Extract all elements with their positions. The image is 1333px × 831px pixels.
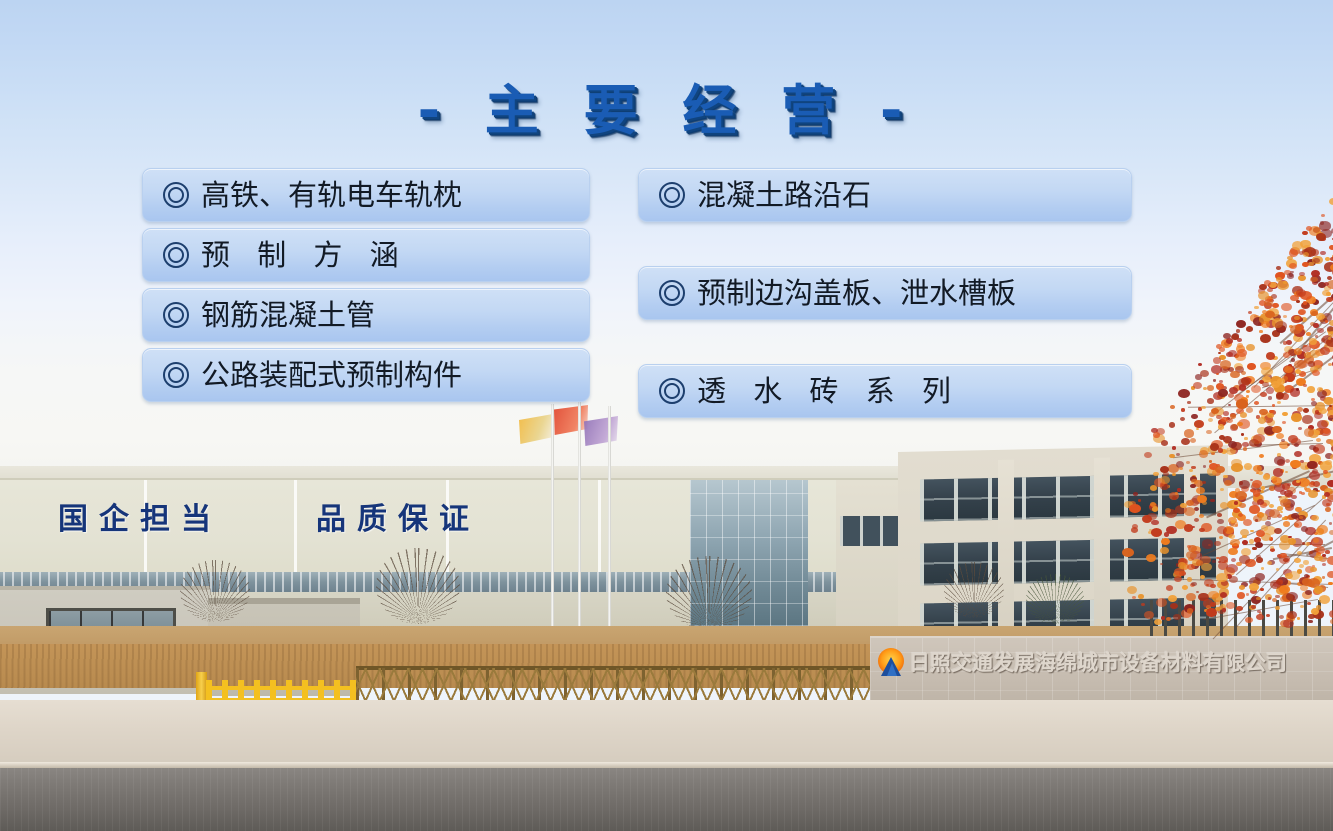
tree-leaf bbox=[1315, 410, 1319, 413]
tree-leaf bbox=[1151, 428, 1158, 433]
tree-leaf bbox=[1314, 548, 1318, 551]
service-item-left-2[interactable]: 预 制 方 涵 bbox=[142, 228, 590, 282]
tree-leaf bbox=[1223, 436, 1231, 443]
tree-leaf bbox=[1301, 492, 1305, 495]
tree-leaf bbox=[1316, 438, 1321, 442]
tree-leaf bbox=[1196, 428, 1199, 430]
tree-leaf bbox=[1223, 411, 1229, 416]
tree-leaf bbox=[1294, 558, 1301, 563]
tree-leaf bbox=[1313, 538, 1319, 543]
tree-leaf bbox=[1294, 523, 1299, 527]
service-item-right-3[interactable]: 透 水 砖 系 列 bbox=[638, 364, 1132, 418]
tree-leaf bbox=[1270, 410, 1276, 415]
tree-leaf bbox=[1308, 425, 1314, 430]
tree-leaf bbox=[1253, 494, 1265, 503]
double-circle-icon bbox=[659, 182, 685, 208]
tree-leaf bbox=[1261, 500, 1269, 507]
tree-leaf bbox=[1265, 428, 1275, 436]
tree-leaf bbox=[1280, 511, 1283, 514]
tree-branch bbox=[1277, 582, 1327, 588]
tree-leaf bbox=[1324, 488, 1333, 495]
tree-leaf bbox=[1322, 495, 1327, 499]
banner-title-wrap: - 主 要 经 营 - bbox=[0, 66, 1333, 145]
tree-leaf bbox=[1277, 453, 1281, 456]
tree-leaf bbox=[1318, 461, 1323, 465]
double-circle-icon bbox=[163, 302, 189, 328]
tree-leaf bbox=[1255, 542, 1263, 548]
tree-leaf bbox=[1243, 519, 1252, 526]
tree-leaf bbox=[1241, 582, 1247, 587]
tree-leaf bbox=[1313, 576, 1322, 583]
tree-leaf bbox=[1232, 543, 1239, 549]
service-label: 透 水 砖 系 列 bbox=[697, 377, 960, 406]
tree-leaf bbox=[1329, 405, 1332, 408]
tree-leaf bbox=[1308, 429, 1319, 438]
tree-leaf bbox=[1187, 401, 1190, 404]
tree-leaf bbox=[1282, 412, 1287, 416]
tree-leaf bbox=[1228, 535, 1232, 538]
tree-leaf bbox=[1198, 407, 1202, 410]
tree-leaf bbox=[1231, 558, 1236, 562]
tree-leaf bbox=[1288, 538, 1296, 545]
tree-leaf bbox=[1317, 420, 1328, 429]
tree-leaf bbox=[1309, 454, 1320, 463]
tree-leaf bbox=[1327, 411, 1333, 419]
tree-leaf bbox=[1309, 445, 1316, 450]
tree-leaf bbox=[1230, 413, 1236, 418]
double-circle-icon bbox=[163, 242, 189, 268]
tree-leaf bbox=[1231, 424, 1238, 429]
service-item-right-1[interactable]: 混凝土路沿石 bbox=[638, 168, 1132, 222]
tree-leaf bbox=[1277, 577, 1288, 586]
tree-leaf bbox=[1328, 415, 1333, 421]
tree-leaf bbox=[1272, 426, 1281, 433]
company-name-row: 日照交通发展海绵城市设备材料有限公司 bbox=[876, 647, 1287, 677]
tree-leaf bbox=[1298, 427, 1302, 430]
tree-leaf bbox=[1297, 569, 1303, 573]
tree-leaf bbox=[1295, 515, 1302, 521]
tree-leaf bbox=[1277, 506, 1283, 511]
tree-leaf bbox=[1269, 410, 1274, 414]
tree-leaf bbox=[1240, 529, 1249, 536]
tree-leaf bbox=[1239, 503, 1246, 509]
office-pier bbox=[998, 460, 1014, 642]
tree-leaf bbox=[1208, 418, 1213, 422]
tree-leaf bbox=[1261, 412, 1271, 420]
tree-leaf bbox=[1315, 428, 1323, 435]
tree-leaf bbox=[1329, 530, 1333, 535]
tree-leaf bbox=[1295, 507, 1302, 513]
tree-leaf bbox=[1253, 490, 1261, 496]
tree-leaf bbox=[1259, 513, 1268, 521]
tree-leaf bbox=[1206, 430, 1212, 434]
tree-leaf bbox=[1319, 408, 1327, 414]
tree-leaf bbox=[1328, 410, 1333, 415]
tree-leaf bbox=[1327, 556, 1333, 565]
tree-leaf bbox=[1276, 568, 1279, 571]
tree-leaf bbox=[1284, 516, 1288, 519]
tree-leaf bbox=[1207, 398, 1214, 404]
tree-leaf bbox=[1299, 516, 1303, 520]
tree-leaf bbox=[1169, 422, 1176, 427]
tree-leaf bbox=[1306, 580, 1315, 587]
tree-leaf bbox=[1285, 503, 1295, 511]
service-item-left-1[interactable]: 高铁、有轨电车轨枕 bbox=[142, 168, 590, 222]
tree-leaf bbox=[1277, 459, 1285, 466]
flag-pole bbox=[578, 396, 581, 664]
tree-leaf bbox=[1279, 585, 1290, 594]
tree-leaf bbox=[1322, 554, 1325, 557]
tree-leaf bbox=[1316, 490, 1320, 493]
tree-leaf bbox=[1245, 559, 1256, 568]
tree-leaf bbox=[1268, 560, 1275, 565]
tree-branch bbox=[1247, 443, 1323, 446]
tree-leaf bbox=[1282, 421, 1286, 425]
service-label: 公路装配式预制构件 bbox=[201, 361, 462, 390]
tree-leaf bbox=[1318, 585, 1326, 591]
tree-leaf bbox=[1275, 595, 1280, 599]
tree-leaf bbox=[1270, 548, 1275, 552]
tree-leaf bbox=[1317, 412, 1321, 415]
tree-leaf bbox=[1239, 585, 1245, 590]
tree-leaf bbox=[1325, 453, 1333, 459]
tree-leaf bbox=[1194, 420, 1203, 428]
tree-leaf bbox=[1309, 551, 1313, 554]
tree-leaf bbox=[1303, 408, 1309, 413]
tree-leaf bbox=[1267, 561, 1272, 565]
tree-leaf bbox=[1314, 555, 1322, 562]
tree-leaf bbox=[1252, 500, 1260, 506]
tree-leaf bbox=[1267, 516, 1271, 519]
tree-leaf bbox=[1238, 496, 1246, 502]
company-name-text: 日照交通发展海绵城市设备材料有限公司 bbox=[909, 647, 1287, 677]
tree-leaf bbox=[1226, 417, 1231, 421]
tree-leaf bbox=[1265, 509, 1275, 517]
tree-leaf bbox=[1285, 505, 1291, 510]
tree-leaf bbox=[1267, 419, 1275, 425]
tree-leaf bbox=[1288, 571, 1300, 580]
tree-leaf bbox=[1239, 400, 1246, 406]
tree-leaf bbox=[1237, 592, 1246, 599]
tree-leaf bbox=[1257, 512, 1264, 518]
tree-leaf bbox=[1280, 499, 1291, 508]
tree-leaf bbox=[1230, 539, 1240, 547]
tree-leaf bbox=[1279, 555, 1291, 564]
tree-leaf bbox=[1229, 576, 1238, 583]
tree-leaf bbox=[1228, 404, 1231, 407]
tree-leaf bbox=[1244, 437, 1247, 440]
tree-leaf bbox=[1251, 488, 1257, 493]
tree-leaf bbox=[1298, 515, 1305, 521]
tree-leaf bbox=[1212, 407, 1224, 416]
tree-leaf bbox=[1279, 541, 1290, 550]
tree-leaf bbox=[1251, 435, 1263, 444]
tree-leaf bbox=[1316, 528, 1325, 535]
poster-canvas: 国企担当 品质保证 bbox=[0, 0, 1333, 831]
tree-leaf bbox=[1279, 585, 1286, 590]
tree-leaf bbox=[1278, 496, 1281, 499]
tree-leaf bbox=[1299, 577, 1309, 585]
tree-leaf bbox=[1316, 552, 1321, 556]
double-circle-icon bbox=[163, 182, 189, 208]
tree-leaf bbox=[1276, 579, 1283, 585]
tree-leaf bbox=[1313, 488, 1317, 491]
tree-leaf bbox=[1313, 588, 1321, 595]
tree-leaf bbox=[1288, 435, 1298, 443]
tree-leaf bbox=[1234, 501, 1238, 505]
office-window-row bbox=[920, 473, 1216, 521]
tree-leaf bbox=[1211, 408, 1219, 414]
tree-branch bbox=[1243, 544, 1325, 545]
tree-leaf bbox=[1258, 417, 1267, 424]
tree-leaf bbox=[1230, 414, 1237, 419]
services-right-column: 混凝土路沿石 预制边沟盖板、泄水槽板 透 水 砖 系 列 bbox=[638, 168, 1132, 418]
tree-leaf bbox=[1311, 515, 1319, 521]
tree-leaf bbox=[1326, 503, 1329, 506]
tree-leaf bbox=[1315, 402, 1325, 410]
tree-leaf bbox=[1300, 460, 1304, 463]
tree-leaf bbox=[1297, 407, 1303, 412]
tree-leaf bbox=[1281, 439, 1285, 442]
tree-leaf bbox=[1302, 542, 1306, 545]
tree-leaf bbox=[1277, 514, 1282, 518]
tree-leaf bbox=[1264, 526, 1276, 536]
service-item-left-4[interactable]: 公路装配式预制构件 bbox=[142, 348, 590, 402]
tree-leaf bbox=[1328, 582, 1333, 586]
tree-leaf bbox=[1233, 508, 1240, 513]
tree-leaf bbox=[1299, 564, 1304, 568]
tree-leaf bbox=[1294, 451, 1302, 457]
tree-leaf bbox=[1314, 586, 1324, 594]
tree-leaf bbox=[1244, 542, 1247, 545]
tree-leaf bbox=[1236, 399, 1248, 408]
tree-leaf bbox=[1231, 520, 1235, 523]
tree-leaf bbox=[1322, 563, 1326, 566]
tree-leaf bbox=[1287, 515, 1293, 520]
tree-leaf bbox=[1322, 499, 1332, 507]
asphalt-road bbox=[0, 768, 1333, 831]
tree-leaf bbox=[1254, 441, 1262, 448]
tree-leaf bbox=[1288, 536, 1291, 539]
tree-leaf bbox=[1327, 406, 1333, 414]
tree-leaf bbox=[1309, 550, 1319, 558]
tree-leaf bbox=[1226, 418, 1233, 424]
tree-leaf bbox=[1242, 442, 1249, 448]
tree-leaf bbox=[1230, 424, 1238, 430]
tree-leaf bbox=[1291, 495, 1297, 500]
tree-leaf bbox=[1238, 419, 1249, 428]
tree-leaf bbox=[1321, 420, 1329, 427]
tree-branch bbox=[1273, 547, 1332, 560]
tree-leaf bbox=[1252, 547, 1257, 551]
tree-leaf bbox=[1242, 540, 1248, 545]
tree-leaf bbox=[1230, 543, 1233, 546]
tree-leaf bbox=[1306, 575, 1310, 578]
tree-leaf bbox=[1302, 578, 1312, 586]
tree-leaf bbox=[1299, 491, 1302, 494]
tree-leaf bbox=[1291, 413, 1302, 422]
flag-purple bbox=[584, 416, 618, 446]
tree-leaf bbox=[1285, 493, 1292, 499]
tree-leaf bbox=[1260, 502, 1267, 508]
tree-leaf bbox=[1279, 441, 1289, 449]
tree-leaf bbox=[1308, 578, 1320, 587]
tree-leaf bbox=[1269, 509, 1280, 518]
tree-leaf bbox=[1256, 530, 1265, 537]
tree-leaf bbox=[1280, 490, 1286, 495]
double-circle-icon bbox=[659, 280, 685, 306]
tree-leaf bbox=[1260, 588, 1264, 591]
tree-leaf bbox=[1305, 488, 1310, 492]
tree-leaf bbox=[1255, 573, 1265, 581]
tree-leaf bbox=[1320, 428, 1330, 436]
tree-leaf bbox=[1283, 558, 1288, 562]
tree-leaf bbox=[1270, 580, 1281, 589]
tree-leaf bbox=[1231, 442, 1242, 450]
facade-sign-right: 品质保证 bbox=[316, 494, 480, 538]
tree-leaf bbox=[1229, 534, 1235, 539]
tree-leaf bbox=[1250, 530, 1254, 533]
logo-peak-shape bbox=[887, 663, 897, 676]
service-label: 预制边沟盖板、泄水槽板 bbox=[697, 279, 1016, 308]
tree-leaf bbox=[1325, 460, 1331, 465]
service-label: 预 制 方 涵 bbox=[201, 241, 408, 270]
tree-leaf bbox=[1314, 412, 1323, 419]
facade-sign-left: 国企担当 bbox=[58, 494, 222, 538]
tree-leaf bbox=[1283, 569, 1292, 576]
tree-leaf bbox=[1246, 593, 1250, 596]
tree-leaf bbox=[1270, 546, 1273, 549]
tree-leaf bbox=[1280, 553, 1286, 558]
tree-leaf bbox=[1181, 438, 1190, 445]
tree-leaf bbox=[1283, 499, 1294, 508]
company-name-wall: 日照交通发展海绵城市设备材料有限公司 bbox=[870, 636, 1333, 710]
tree-leaf bbox=[1327, 495, 1333, 503]
tree-leaf bbox=[1287, 487, 1296, 494]
tree-leaf bbox=[1236, 408, 1244, 415]
tree-leaf bbox=[1305, 542, 1310, 546]
tree-leaf bbox=[1311, 537, 1323, 546]
tree-leaf bbox=[1304, 574, 1309, 578]
tree-leaf bbox=[1310, 567, 1317, 573]
tree-leaf bbox=[1153, 432, 1160, 437]
tree-leaf bbox=[1249, 505, 1260, 514]
tree-leaf bbox=[1284, 580, 1291, 586]
tree-leaf bbox=[1282, 517, 1285, 520]
tree-leaf bbox=[1303, 560, 1309, 564]
tree-leaf bbox=[1228, 517, 1237, 524]
tree-leaf bbox=[1305, 527, 1316, 536]
tree-leaf bbox=[1269, 504, 1274, 508]
evergreen-shrub bbox=[1026, 574, 1084, 624]
tree-leaf bbox=[1246, 407, 1254, 413]
services-left-column: 高铁、有轨电车轨枕 预 制 方 涵 钢筋混凝土管 公路装配式预制构件 bbox=[142, 168, 590, 408]
tree-leaf bbox=[1239, 555, 1250, 564]
tree-leaf bbox=[1312, 407, 1322, 415]
tree-leaf bbox=[1325, 550, 1329, 554]
tree-leaf bbox=[1277, 585, 1283, 590]
bare-tree bbox=[666, 556, 752, 630]
tree-leaf bbox=[1313, 444, 1325, 454]
tree-leaf bbox=[1218, 419, 1226, 425]
tree-leaf bbox=[1181, 408, 1186, 412]
tree-leaf bbox=[1288, 514, 1296, 520]
tree-leaf bbox=[1156, 428, 1165, 435]
service-item-left-3[interactable]: 钢筋混凝土管 bbox=[142, 288, 590, 342]
tree-leaf bbox=[1316, 546, 1325, 553]
tree-leaf bbox=[1264, 415, 1273, 422]
tree-leaf bbox=[1256, 555, 1260, 558]
tree-leaf bbox=[1235, 488, 1241, 492]
tree-branch bbox=[1236, 482, 1333, 575]
tree-branch bbox=[1188, 405, 1333, 408]
tree-leaf bbox=[1277, 401, 1281, 404]
tree-leaf bbox=[1221, 417, 1228, 422]
tree-leaf bbox=[1241, 548, 1251, 556]
tree-leaf bbox=[1259, 454, 1264, 458]
double-circle-icon bbox=[163, 362, 189, 388]
tree-leaf bbox=[1161, 440, 1168, 446]
tree-leaf bbox=[1294, 443, 1299, 447]
tree-leaf bbox=[1259, 409, 1267, 416]
tree-leaf bbox=[1190, 438, 1197, 443]
tree-leaf bbox=[1267, 413, 1274, 418]
tree-leaf bbox=[1238, 513, 1243, 517]
tree-leaf bbox=[1201, 406, 1205, 409]
tree-leaf bbox=[1292, 538, 1303, 547]
tree-leaf bbox=[1261, 567, 1264, 570]
tree-leaf bbox=[1291, 438, 1301, 446]
tree-leaf bbox=[1285, 459, 1290, 463]
tree-leaf bbox=[1232, 510, 1242, 518]
tree-leaf bbox=[1279, 496, 1288, 503]
tree-leaf bbox=[1228, 548, 1238, 556]
service-label: 钢筋混凝土管 bbox=[201, 301, 375, 330]
tree-leaf bbox=[1230, 447, 1238, 454]
tree-leaf bbox=[1219, 435, 1225, 440]
tree-leaf bbox=[1237, 514, 1246, 521]
tree-leaf bbox=[1180, 417, 1185, 421]
tree-leaf bbox=[1312, 430, 1319, 436]
tree-leaf bbox=[1310, 515, 1316, 520]
tree-leaf bbox=[1235, 491, 1247, 500]
tree-leaf bbox=[1231, 521, 1238, 526]
tree-leaf bbox=[1302, 591, 1312, 599]
tree-leaf bbox=[1191, 414, 1197, 419]
tree-leaf bbox=[1305, 590, 1312, 595]
flag-red bbox=[554, 405, 588, 435]
tree-leaf bbox=[1238, 400, 1248, 408]
bare-tree bbox=[376, 548, 460, 624]
tree-leaf bbox=[1225, 440, 1230, 444]
tree-leaf bbox=[1312, 565, 1315, 567]
tree-leaf bbox=[1297, 582, 1303, 587]
tree-leaf bbox=[1232, 500, 1241, 508]
tree-leaf bbox=[1322, 576, 1325, 579]
tree-leaf bbox=[1319, 556, 1327, 563]
tree-leaf bbox=[1249, 539, 1255, 544]
service-item-right-2[interactable]: 预制边沟盖板、泄水槽板 bbox=[638, 266, 1132, 320]
tree-leaf bbox=[1277, 554, 1282, 558]
tree-leaf bbox=[1265, 521, 1271, 526]
tree-leaf bbox=[1256, 557, 1263, 562]
tree-leaf bbox=[1311, 401, 1317, 406]
tree-leaf bbox=[1253, 579, 1260, 585]
flag-yellow bbox=[519, 414, 553, 444]
tree-leaf bbox=[1255, 519, 1258, 522]
tree-leaf bbox=[1313, 447, 1320, 452]
tree-leaf bbox=[1250, 588, 1257, 594]
